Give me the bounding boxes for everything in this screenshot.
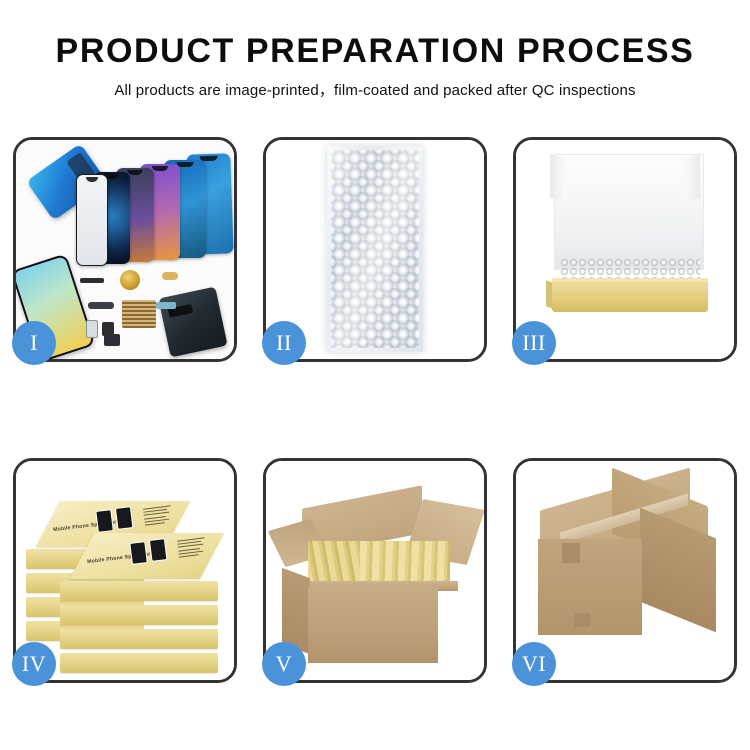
step-badge-5: V [262, 642, 306, 686]
step-badge-1: I [12, 321, 56, 365]
step-badge-3: III [512, 321, 556, 365]
bubble-wrapped-package [327, 146, 423, 352]
carton-front-face [538, 539, 642, 635]
process-step-panel-1[interactable]: I [13, 137, 237, 362]
logic-board-part [158, 287, 227, 358]
process-step-panel-6[interactable]: VI [513, 458, 737, 683]
process-step-panel-2[interactable]: II [263, 137, 487, 362]
step-badge-6: VI [512, 642, 556, 686]
page-subtitle: All products are image-printed，film-coat… [0, 79, 750, 100]
process-step-grid: I II III [13, 137, 737, 683]
box-stack: Mobile Phone Spare Parts Mobile Phone Sp… [20, 477, 234, 673]
box-lid-white [554, 154, 704, 270]
carton-front-face [308, 587, 438, 663]
speaker-coil-part [120, 270, 140, 290]
phone-screen-fan [76, 152, 234, 264]
spare-parts-cluster [78, 268, 230, 356]
step-badge-2: II [262, 321, 306, 365]
process-step-panel-4[interactable]: Mobile Phone Spare Parts Mobile Phone Sp… [13, 458, 237, 683]
kraft-box-front [552, 282, 708, 312]
step-badge-4: IV [12, 642, 56, 686]
process-step-panel-3[interactable]: III [513, 137, 737, 362]
page-title: PRODUCT PREPARATION PROCESS [0, 34, 750, 70]
process-step-panel-5[interactable]: V [263, 458, 487, 683]
screw-grid-part [122, 300, 156, 328]
box-lid-top-2: Mobile Phone Spare Parts [70, 533, 224, 579]
page-header: PRODUCT PREPARATION PROCESS All products… [0, 0, 750, 100]
